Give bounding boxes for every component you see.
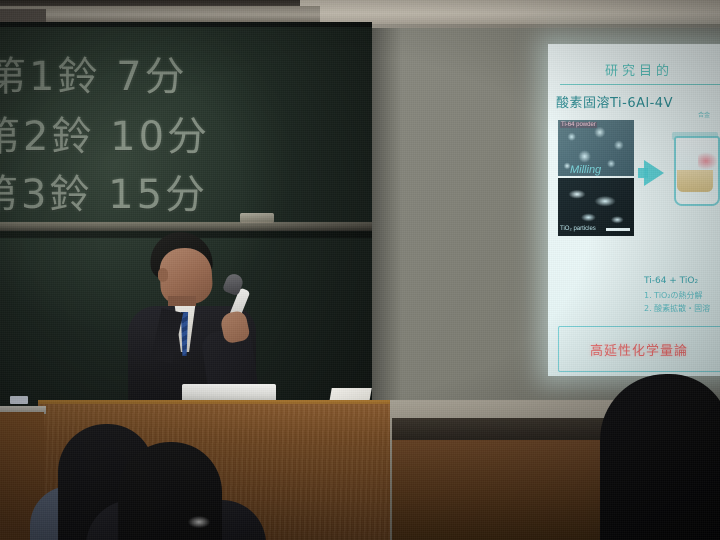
slide-body-line-2: 1. TiO₂の熱分解 <box>644 290 703 301</box>
slide-body-line-3: 2. 酸素拡散・固溶 <box>644 303 710 314</box>
chalkboard-line-2: 第2鈴 10分 <box>0 104 210 162</box>
chalk-rail <box>0 222 372 231</box>
slide-subtitle-small: 合金 <box>698 110 710 119</box>
sem-image-powder-label: Ti-64 powder <box>560 122 597 128</box>
chalkboard-line-3: 第3鈴 15分 <box>0 162 208 220</box>
audience-head-right <box>600 374 720 540</box>
crucible-contents <box>677 170 713 192</box>
slide-title: 研究目的 <box>548 60 720 79</box>
sem-scale-bar <box>606 228 630 231</box>
screen-shadow <box>372 28 402 420</box>
jacket-logo-icon <box>188 516 210 528</box>
slide-highlight-text: 高延性化学量論 <box>548 340 720 359</box>
sem-image-particles-label: TiO₂ particles <box>560 226 596 232</box>
lecture-hall-photo: 研究目的 酸素固溶Ti-6Al-4V 合金 Ti-64 powder TiO₂ … <box>0 0 720 540</box>
ceiling-trim-left <box>0 6 320 22</box>
crucible-heat-zone <box>698 152 718 170</box>
process-arrow-icon <box>644 160 664 186</box>
chalkboard-top-edge <box>0 22 372 27</box>
chalkboard-line-1: 第1鈴 7分 <box>0 44 188 102</box>
slide-body-line-1: Ti-64 + TiO₂ <box>644 276 698 286</box>
slide-divider <box>560 84 720 85</box>
trim-notch <box>0 9 46 22</box>
presenter-ear <box>158 268 168 282</box>
slide-subtitle: 酸素固溶Ti-6Al-4V <box>556 92 673 111</box>
milling-process-label: Milling <box>570 164 601 176</box>
projected-slide: 研究目的 酸素固溶Ti-6Al-4V 合金 Ti-64 powder TiO₂ … <box>548 44 720 376</box>
desk-object <box>10 396 28 404</box>
